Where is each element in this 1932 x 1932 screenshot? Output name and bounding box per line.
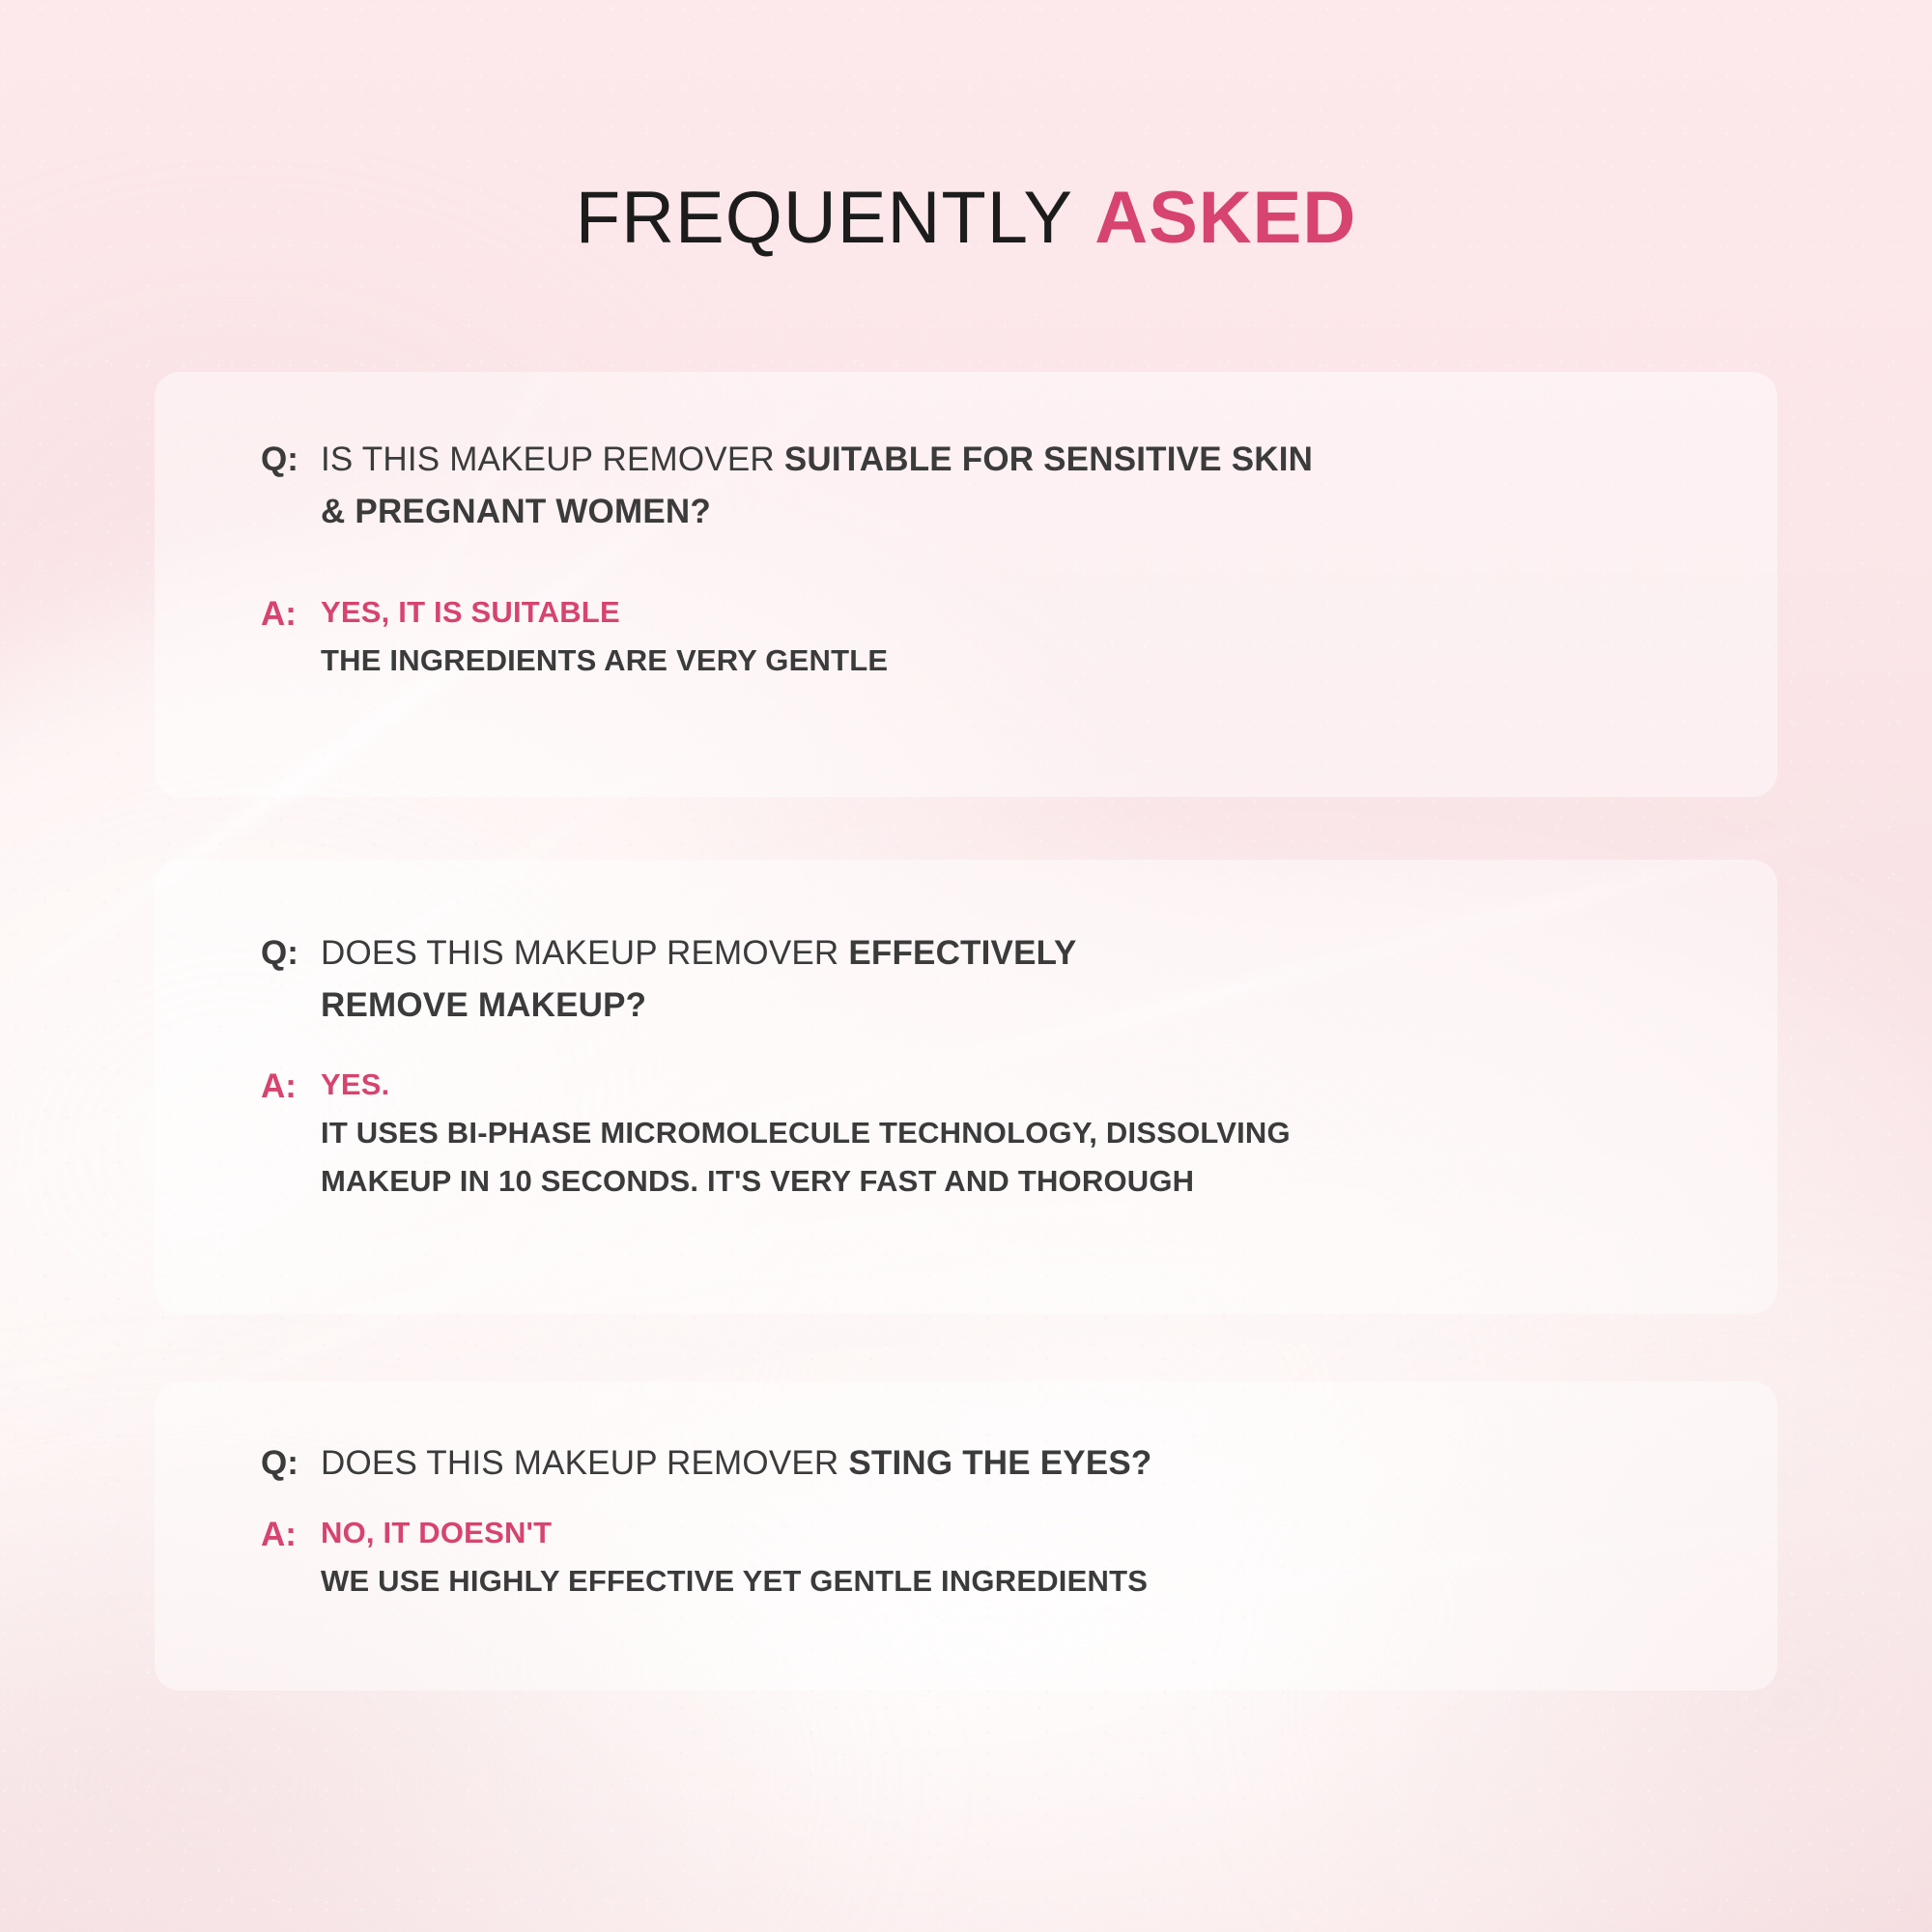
question-text-light: IS THIS MAKEUP REMOVER — [321, 440, 784, 478]
question-text-light: DOES THIS MAKEUP REMOVER — [321, 934, 848, 972]
question-line: IS THIS MAKEUP REMOVER SUITABLE FOR SENS… — [321, 434, 1671, 486]
answer-marker: A: — [261, 1061, 321, 1113]
faq-answer-block: A: YES, IT IS SUITABLE THE INGREDIENTS A… — [261, 538, 1671, 685]
title-word-asked: ASKED — [1094, 177, 1356, 259]
question-text-bold: EFFECTIVELY — [848, 934, 1076, 972]
question-marker: Q: — [261, 1437, 321, 1490]
faq-answer-block: A: YES. IT USES BI-PHASE MICROMOLECULE T… — [261, 1032, 1671, 1206]
answer-line: WE USE HIGHLY EFFECTIVE YET GENTLE INGRE… — [321, 1557, 1671, 1605]
question-text-bold: SUITABLE FOR SENSITIVE SKIN — [784, 440, 1313, 478]
question-text-bold: & PREGNANT WOMEN? — [321, 493, 711, 530]
faq-question-block: Q: IS THIS MAKEUP REMOVER SUITABLE FOR S… — [261, 372, 1671, 538]
answer-line: IT USES BI-PHASE MICROMOLECULE TECHNOLOG… — [321, 1109, 1671, 1157]
question-text-bold: STING THE EYES? — [848, 1444, 1151, 1482]
answer-line: MAKEUP IN 10 SECONDS. IT'S VERY FAST AND… — [321, 1157, 1671, 1206]
answer-headline: YES, IT IS SUITABLE — [321, 588, 1671, 637]
answer-marker: A: — [261, 588, 321, 640]
question-line: DOES THIS MAKEUP REMOVER STING THE EYES? — [321, 1437, 1671, 1490]
title-word-frequently: FREQUENTLY — [576, 177, 1073, 259]
faq-card: Q: DOES THIS MAKEUP REMOVER EFFECTIVELY … — [155, 860, 1777, 1314]
answer-line: THE INGREDIENTS ARE VERY GENTLE — [321, 637, 1671, 685]
faq-answer-block: A: NO, IT DOESN'T WE USE HIGHLY EFFECTIV… — [261, 1490, 1671, 1605]
faq-question-block: Q: DOES THIS MAKEUP REMOVER STING THE EY… — [261, 1381, 1671, 1490]
question-line: DOES THIS MAKEUP REMOVER EFFECTIVELY — [321, 927, 1671, 980]
question-text-bold: REMOVE MAKEUP? — [321, 986, 646, 1024]
answer-headline: YES. — [321, 1061, 1671, 1109]
answer-marker: A: — [261, 1509, 321, 1561]
faq-question-block: Q: DOES THIS MAKEUP REMOVER EFFECTIVELY … — [261, 860, 1671, 1032]
question-line: REMOVE MAKEUP? — [321, 980, 1671, 1032]
page-title: FREQUENTLY ASKED — [0, 182, 1932, 255]
question-marker: Q: — [261, 927, 321, 980]
question-line: & PREGNANT WOMEN? — [321, 486, 1671, 538]
question-text-light: DOES THIS MAKEUP REMOVER — [321, 1444, 848, 1482]
faq-card: Q: IS THIS MAKEUP REMOVER SUITABLE FOR S… — [155, 372, 1777, 797]
faq-card: Q: DOES THIS MAKEUP REMOVER STING THE EY… — [155, 1381, 1777, 1690]
question-marker: Q: — [261, 434, 321, 486]
answer-headline: NO, IT DOESN'T — [321, 1509, 1671, 1557]
